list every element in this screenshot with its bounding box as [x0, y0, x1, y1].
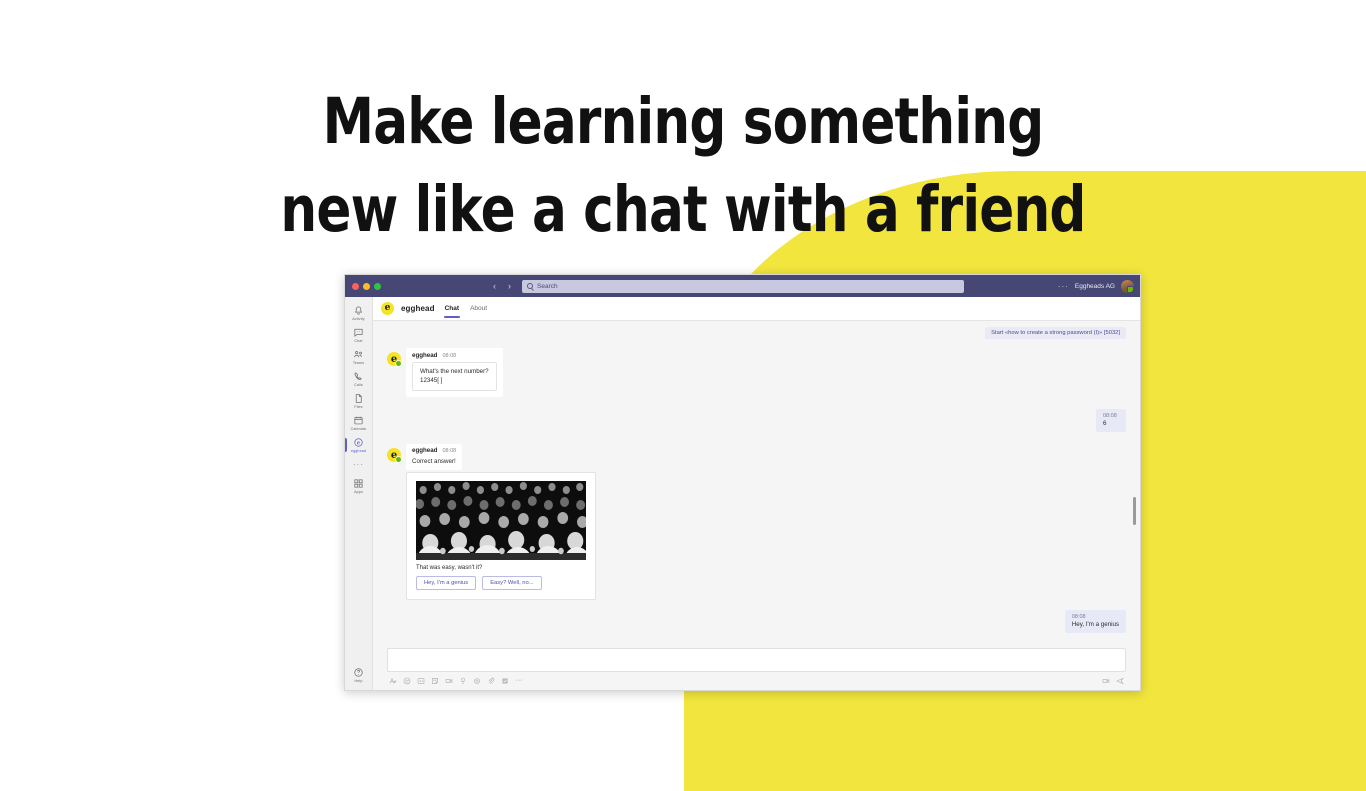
message-bot-question: e egghead 08:08 What's the next number? …	[387, 348, 1126, 397]
apps-icon	[353, 478, 364, 489]
message-author: egghead	[412, 352, 437, 359]
message-bot-card: That was easy, wasn't it? Hey, I'm a gen…	[387, 472, 1126, 600]
sidebar-item-egghead[interactable]: e egghead	[345, 434, 373, 456]
compose-toolbar: ···	[387, 672, 1126, 685]
page-headline: Make learning something new like a chat …	[123, 78, 1243, 254]
bot-avatar: e	[387, 352, 401, 366]
sidebar-item-label: Teams	[353, 361, 364, 366]
chat-icon	[353, 327, 364, 338]
org-name-label: Eggheads AG	[1075, 283, 1115, 290]
search-placeholder: Search	[537, 283, 558, 290]
app-content: e egghead Chat About	[373, 297, 1140, 690]
compose-more-button[interactable]: ···	[515, 677, 523, 685]
search-icon	[527, 283, 533, 289]
card-button-not-easy[interactable]: Easy? Well, no...	[482, 576, 541, 590]
forward-icon[interactable]: ›	[508, 281, 511, 291]
approvals-icon[interactable]	[501, 677, 509, 685]
message-text: Correct answer!	[412, 457, 456, 466]
card-actions: Hey, I'm a genius Easy? Well, no...	[416, 576, 586, 590]
sidebar-item-label: Apps	[354, 490, 363, 495]
crowd-illustration	[416, 481, 586, 560]
message-scrollbar[interactable]	[1135, 321, 1138, 642]
card-caption: That was easy, wasn't it?	[416, 565, 586, 571]
phone-icon	[353, 371, 364, 382]
adaptive-card: That was easy, wasn't it? Hey, I'm a gen…	[406, 472, 596, 600]
message-list[interactable]: Start «how to create a strong password (…	[373, 321, 1140, 642]
message-text: 6	[1103, 420, 1119, 427]
tab-about[interactable]: About	[469, 297, 488, 320]
sidebar-item-activity[interactable]: Activity	[345, 302, 373, 324]
loop-icon[interactable]	[473, 677, 481, 685]
headline-line-1: Make learning something	[123, 78, 1243, 166]
applause-gif	[416, 481, 586, 560]
message-user-answer: 08:08 6	[387, 409, 1126, 432]
user-message-bubble: 08:08 Hey, I'm a genius	[1065, 610, 1126, 633]
nav-arrows: ‹ ›	[493, 281, 511, 291]
settings-overflow-button[interactable]: ···	[1058, 282, 1069, 291]
search-input[interactable]: Search	[522, 280, 964, 293]
attach-icon[interactable]	[487, 677, 495, 685]
system-notice: Start «how to create a strong password (…	[985, 327, 1126, 339]
egghead-logo: e	[381, 302, 394, 315]
sidebar-item-files[interactable]: Files	[345, 390, 373, 412]
headline-line-2: new like a chat with a friend	[123, 166, 1243, 254]
format-icon[interactable]	[389, 677, 397, 685]
message-timestamp: 08:08	[1072, 614, 1119, 620]
avatar[interactable]	[1121, 280, 1134, 293]
tab-chat[interactable]: Chat	[444, 297, 460, 320]
window-titlebar: ‹ › Search ··· Eggheads AG	[345, 275, 1140, 297]
app-tabs: Chat About	[444, 297, 488, 320]
message-meta: egghead 08:08	[412, 447, 456, 454]
sidebar-item-chat[interactable]: Chat	[345, 324, 373, 346]
left-rail: Activity Chat	[345, 297, 373, 690]
message-meta: egghead 08:08	[412, 352, 497, 359]
giphy-icon[interactable]	[417, 677, 425, 685]
message-text: Hey, I'm a genius	[1072, 621, 1119, 628]
sidebar-item-label: Chat	[354, 339, 362, 344]
close-window-button[interactable]	[352, 283, 359, 290]
sidebar-item-apps[interactable]: Apps	[345, 475, 373, 497]
window-traffic-lights	[352, 283, 381, 290]
message-bot-correct: e egghead 08:08 Correct answer!	[387, 444, 1126, 470]
sidebar-item-label: Files	[354, 405, 362, 410]
app-body: Activity Chat	[345, 297, 1140, 690]
back-icon[interactable]: ‹	[493, 281, 496, 291]
message-timestamp: 08:08	[442, 448, 456, 454]
egghead-icon: e	[353, 437, 364, 448]
titlebar-right-cluster: ··· Eggheads AG	[1058, 280, 1134, 293]
maximize-window-button[interactable]	[374, 283, 381, 290]
message-author: egghead	[412, 447, 437, 454]
message-timestamp: 08:08	[1103, 413, 1119, 419]
message-card: egghead 08:08 What's the next number? 12…	[406, 348, 503, 397]
bell-icon	[353, 305, 364, 316]
message-timestamp: 08:08	[442, 353, 456, 359]
sidebar-item-teams[interactable]: Teams	[345, 346, 373, 368]
video-message-icon[interactable]	[1102, 677, 1110, 685]
compose-area: ···	[373, 642, 1140, 690]
message-user-genius: 08:08 Hey, I'm a genius	[387, 610, 1126, 633]
sidebar-more-apps-button[interactable]: ···	[353, 456, 364, 475]
system-notice-row: Start «how to create a strong password (…	[387, 327, 1126, 339]
help-icon	[353, 667, 364, 678]
praise-icon[interactable]	[459, 677, 467, 685]
sidebar-item-label: Activity	[352, 317, 364, 322]
send-icon[interactable]	[1116, 677, 1124, 685]
minimize-window-button[interactable]	[363, 283, 370, 290]
teams-icon	[353, 349, 364, 360]
question-box: What's the next number? 12345[ ]	[412, 362, 497, 391]
app-header: e egghead Chat About	[373, 297, 1140, 321]
sidebar-item-label: egghead	[351, 449, 366, 454]
message-card: egghead 08:08 Correct answer!	[406, 444, 462, 470]
calendar-icon	[353, 415, 364, 426]
question-line-1: What's the next number?	[420, 368, 489, 377]
sidebar-item-help[interactable]: Help	[345, 664, 373, 690]
card-button-genius[interactable]: Hey, I'm a genius	[416, 576, 476, 590]
app-title: egghead	[401, 304, 435, 313]
sidebar-item-label: Help	[355, 679, 363, 684]
svg-text:e: e	[357, 440, 360, 446]
sidebar-item-label: Calendar	[351, 427, 367, 432]
scrollbar-thumb[interactable]	[1133, 497, 1136, 525]
sidebar-item-calendar[interactable]: Calendar	[345, 412, 373, 434]
user-message-bubble: 08:08 6	[1096, 409, 1126, 432]
bot-avatar: e	[387, 448, 401, 462]
file-icon	[353, 393, 364, 404]
emoji-icon[interactable]	[403, 677, 411, 685]
meeting-icon[interactable]	[445, 677, 453, 685]
sidebar-item-calls[interactable]: Calls	[345, 368, 373, 390]
message-input[interactable]	[387, 648, 1126, 672]
sidebar-item-label: Calls	[354, 383, 363, 388]
sticker-icon[interactable]	[431, 677, 439, 685]
question-line-2: 12345[ ]	[420, 377, 489, 386]
teams-app-window: ‹ › Search ··· Eggheads AG Activ	[344, 274, 1141, 691]
